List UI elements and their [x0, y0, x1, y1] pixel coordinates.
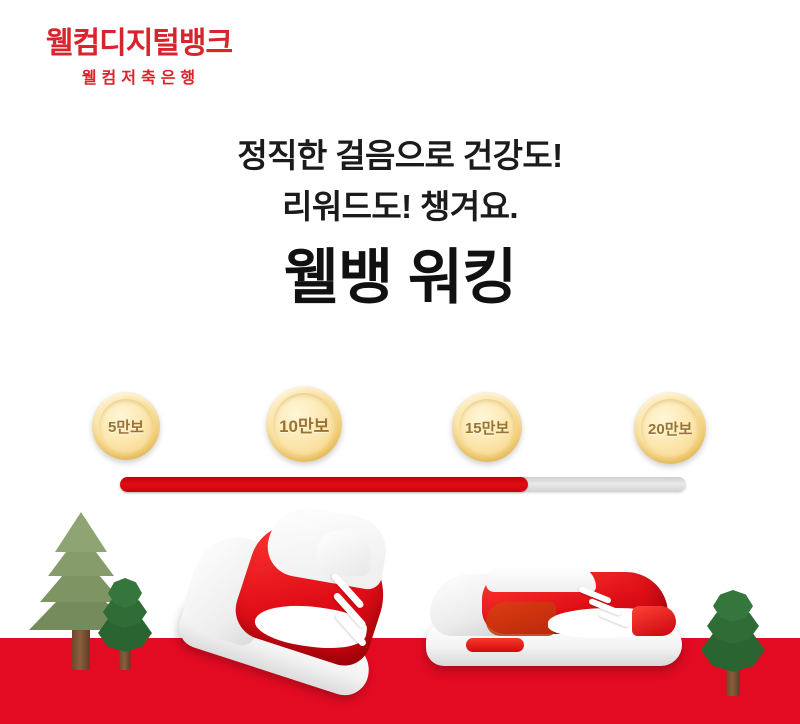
- round-tree-icon-left: [97, 545, 153, 670]
- brand-logo-sub: 웰컴저축은행: [24, 64, 254, 88]
- shoe-toecap: [632, 606, 676, 636]
- progress-bar-track[interactable]: [120, 477, 686, 492]
- brand-logo[interactable]: 웰컴디지털뱅크 웰컴저축은행: [24, 28, 254, 88]
- round-tree-icon-right: [700, 556, 766, 696]
- milestone-coin-20man[interactable]: 20만보: [631, 389, 709, 467]
- sneaker-illustration-right: [426, 548, 682, 666]
- page-title: 웰뱅 워킹: [0, 245, 800, 311]
- shoe-mudguard: [486, 602, 556, 636]
- shoe-tongue: [316, 529, 373, 577]
- milestone-coin-15man[interactable]: 15만보: [450, 390, 525, 465]
- milestone-coin-label: 10만보: [279, 412, 329, 437]
- shoe-air-unit: [466, 638, 524, 652]
- milestone-coin-label: 5만보: [108, 416, 144, 437]
- headline-line-2: 리워드도! 챙겨요.: [0, 181, 800, 232]
- headline: 정직한 걸음으로 건강도! 리워드도! 챙겨요.: [0, 130, 800, 232]
- milestone-coin-5man[interactable]: 5만보: [92, 392, 160, 460]
- promo-banner: 웰컴디지털뱅크 웰컴저축은행 정직한 걸음으로 건강도! 리워드도! 챙겨요. …: [0, 0, 800, 724]
- milestone-coin-label: 15만보: [465, 416, 509, 437]
- brand-logo-main: 웰컴디지털뱅크: [24, 28, 254, 60]
- tree-trunk: [72, 628, 90, 670]
- milestone-coin-label: 20만보: [648, 418, 692, 439]
- headline-line-1: 정직한 걸음으로 건강도!: [0, 130, 800, 181]
